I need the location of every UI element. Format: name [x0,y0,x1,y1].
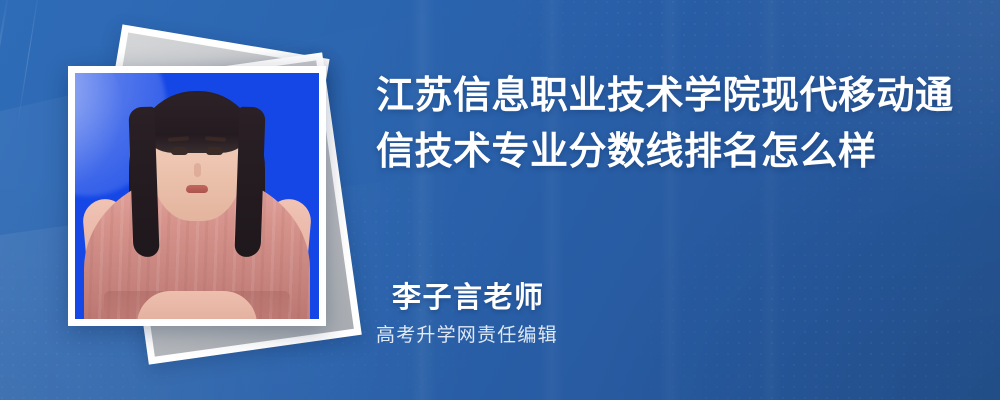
photo-stack [0,0,400,400]
figure-hands [137,291,257,319]
portrait-figure [75,73,319,319]
author-byline: 高考升学网责任编辑 [376,320,558,347]
banner-text-column: 江苏信息职业技术学院现代移动通信技术专业分数线排名怎么样 李子言老师 高考升学网… [370,0,1000,400]
figure-hair-side-left [128,107,159,258]
article-title: 江苏信息职业技术学院现代移动通信技术专业分数线排名怎么样 [376,68,976,180]
figure-eye-left [171,147,188,155]
author-name: 李子言老师 [392,274,545,316]
figure-eye-right [206,147,223,155]
figure-mouth [186,185,208,193]
figure-hair-side-right [234,107,265,258]
article-hero-banner: 江苏信息职业技术学院现代移动通信技术专业分数线排名怎么样 李子言老师 高考升学网… [0,0,1000,400]
portrait-photo [75,73,319,319]
figure-nose [194,163,201,177]
portrait-photo-frame [68,66,326,326]
